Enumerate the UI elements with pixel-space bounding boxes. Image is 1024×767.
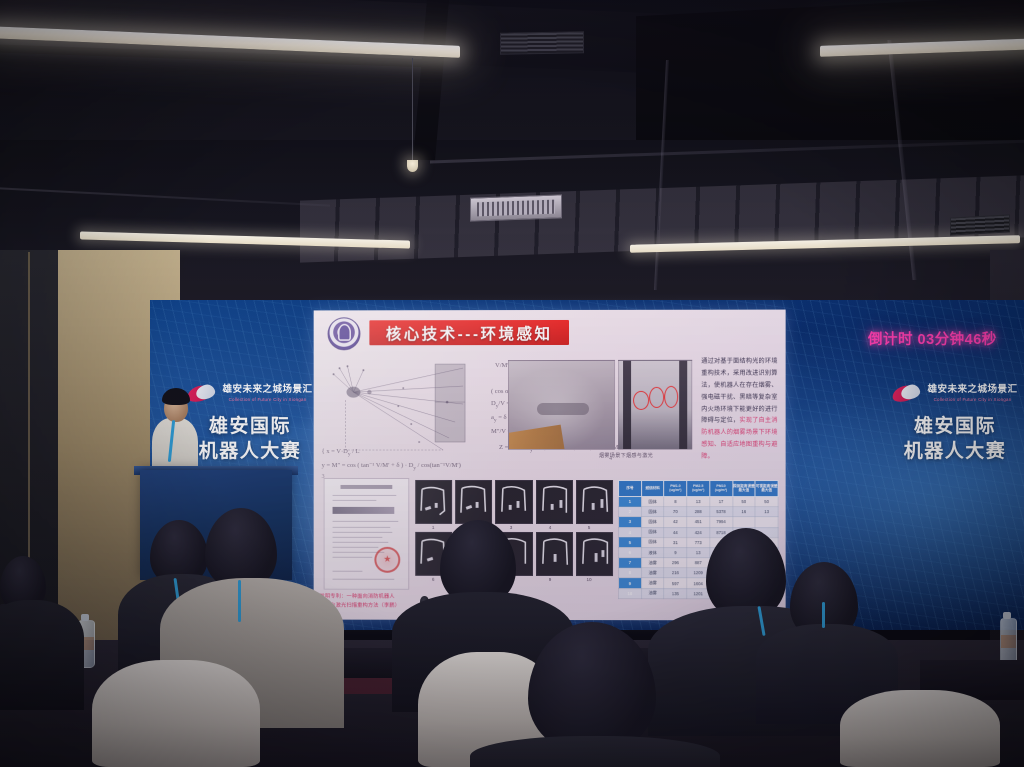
photo-caption: 烟雾场景下烟感与激光	[599, 452, 653, 459]
table-cell: 70	[664, 507, 687, 517]
right-banner-title-line2: 机器人大赛	[880, 439, 1024, 464]
right-banner-title-line1: 雄安国际	[880, 414, 1024, 439]
table-cell: 216	[664, 568, 687, 578]
table-header-cell: 序号	[619, 481, 642, 497]
detection-circle-mark	[633, 391, 649, 410]
patent-certificate-image	[324, 478, 410, 590]
slam-map-row-1	[415, 480, 613, 524]
table-header-cell: PM2.5 (ug/m³)	[687, 481, 710, 497]
detection-circle-mark	[649, 387, 664, 408]
table-header-cell: PM1.0 (ug/m³)	[664, 481, 687, 497]
table-cell: 固体	[641, 537, 664, 547]
right-banner-logo: 雄安未来之城场景汇 Collection of Future City in X…	[880, 385, 1024, 402]
table-header-cell: 可视距离误差 最大值	[755, 481, 778, 497]
ceiling-vent	[500, 31, 584, 54]
slam-map-cell	[536, 480, 573, 524]
table-cell: 50	[755, 497, 778, 507]
table-cell: 288	[687, 507, 710, 517]
right-event-banner: 雄安未来之城场景汇 Collection of Future City in X…	[880, 385, 1024, 464]
table-row-index: 4	[619, 527, 642, 537]
university-emblem-icon	[328, 317, 361, 350]
conference-hall-photo: 雄安未来之城场景汇 Collection of Future City in X…	[0, 0, 1024, 767]
table-cell: 16	[732, 507, 755, 517]
water-bottle	[1000, 618, 1017, 666]
water-bottle-cap	[1003, 612, 1011, 619]
chair-back	[92, 660, 260, 767]
smoke-scene-photo	[508, 360, 615, 450]
table-cell: 5378	[710, 507, 733, 517]
table-row-index: 6	[619, 547, 642, 557]
table-cell: 773	[687, 537, 710, 547]
slam-map-cell	[415, 480, 452, 524]
table-cell: 13	[687, 548, 710, 558]
slam-map-cell	[536, 532, 573, 576]
table-cell: 7994	[710, 517, 733, 527]
table-cell: 油雾	[641, 588, 664, 598]
slam-map-labels-row1: 1 2 3 4 5	[415, 524, 613, 532]
slam-map-label: 9	[532, 577, 568, 582]
table-cell: 油雾	[641, 568, 664, 578]
table-header-row: 序号燃烧材料PM1.0 (ug/m³)PM2.5 (ug/m³)PM10 (ug…	[619, 481, 779, 497]
official-red-seal-icon	[374, 547, 400, 573]
table-header-cell: PM10 (ug/m³)	[710, 481, 733, 497]
table-cell: 296	[664, 558, 687, 568]
left-banner-logo-cn: 雄安未来之城场景汇	[222, 385, 312, 395]
chair-back	[840, 690, 1000, 767]
pendant-light-bulb	[407, 160, 418, 172]
table-cell: 42	[664, 517, 687, 527]
table-cell: 31	[664, 537, 687, 547]
table-cell: 8	[664, 497, 687, 507]
table-cell: 597	[664, 578, 687, 588]
table-cell: 液体	[641, 547, 664, 557]
slam-map-label: 5	[571, 525, 607, 530]
table-cell: 13	[755, 507, 778, 517]
table-row-index: 10	[619, 588, 642, 598]
ceiling-vent	[950, 214, 1010, 235]
right-banner-logo-en: Collection of Future City in Xiongan	[927, 397, 1017, 402]
right-banner-logo-cn: 雄安未来之城场景汇	[927, 385, 1017, 395]
table-cell: 451	[687, 517, 710, 527]
left-banner-title-line1: 雄安国际	[175, 414, 325, 439]
table-row: 2固体7028853781613	[619, 507, 779, 517]
xiongan-swoosh-icon	[892, 385, 922, 402]
wall-cable	[28, 252, 30, 582]
detection-result-photo	[618, 360, 692, 450]
slide-paragraph: 通过对基于面结构光的环境重构技术，采用改进识别算法，使机器人在存在烟雾、强电磁干…	[701, 356, 777, 463]
table-row-index: 8	[619, 568, 642, 578]
slam-map-label: 1	[415, 525, 451, 530]
table-row-index: 3	[619, 517, 642, 527]
countdown-timer: 倒计时 03分钟46秒	[868, 328, 1024, 349]
ceiling-ac-unit	[470, 194, 562, 221]
table-cell: 50	[732, 497, 755, 507]
slam-map-cell	[576, 480, 613, 524]
table-cell: 424	[687, 527, 710, 537]
table-row-index: 2	[619, 507, 642, 517]
table-cell: 135	[664, 588, 687, 598]
table-row-index: 5	[619, 537, 642, 547]
pendant-light-wire	[412, 58, 413, 163]
table-cell: 9	[664, 548, 687, 558]
slam-map-label: 10	[571, 577, 607, 582]
table-row-index: 9	[619, 578, 642, 588]
table-cell: 887	[687, 558, 710, 568]
table-cell: 固体	[641, 527, 664, 537]
slam-map-cell	[495, 480, 532, 524]
table-row: 3固体424517994	[619, 517, 779, 527]
slam-map-cell	[455, 480, 492, 524]
table-cell	[732, 517, 755, 527]
table-cell: 13	[687, 497, 710, 507]
left-banner-logo: 雄安未来之城场景汇 Collection of Future City in X…	[175, 385, 325, 402]
certificate-caption-line1: 发明专利：一种面向消防机器人	[320, 593, 420, 602]
table-cell: 固体	[641, 507, 664, 517]
table-header-cell: 探测距离误差 最大值	[732, 481, 755, 497]
slide-title: 核心技术---环境感知	[369, 320, 569, 345]
table-header-cell: 燃烧材料	[641, 481, 664, 497]
table-cell: 油雾	[641, 558, 664, 568]
xiongan-swoosh-icon	[187, 385, 217, 402]
table-cell: 油雾	[641, 578, 664, 588]
left-banner-logo-en: Collection of Future City in Xiongan	[222, 397, 312, 402]
detection-circle-mark	[664, 386, 678, 408]
table-row: 1固体813175050	[619, 496, 779, 506]
table-cell	[755, 517, 778, 527]
presenter-hair	[162, 388, 190, 405]
table-row-index: 7	[619, 558, 642, 568]
water-bottle-cap	[81, 614, 89, 621]
table-cell: 固体	[641, 497, 664, 507]
table-cell: 44	[664, 527, 687, 537]
table-cell: 固体	[641, 517, 664, 527]
slide-paragraph-text: 通过对基于面结构光的环境重构技术，采用改进识别算法，使机器人在存在烟雾、强电磁干…	[701, 358, 777, 425]
table-row-index: 1	[619, 496, 642, 506]
slam-map-label: 4	[532, 525, 568, 530]
table-cell: 17	[710, 497, 733, 507]
slam-map-cell	[576, 532, 613, 576]
